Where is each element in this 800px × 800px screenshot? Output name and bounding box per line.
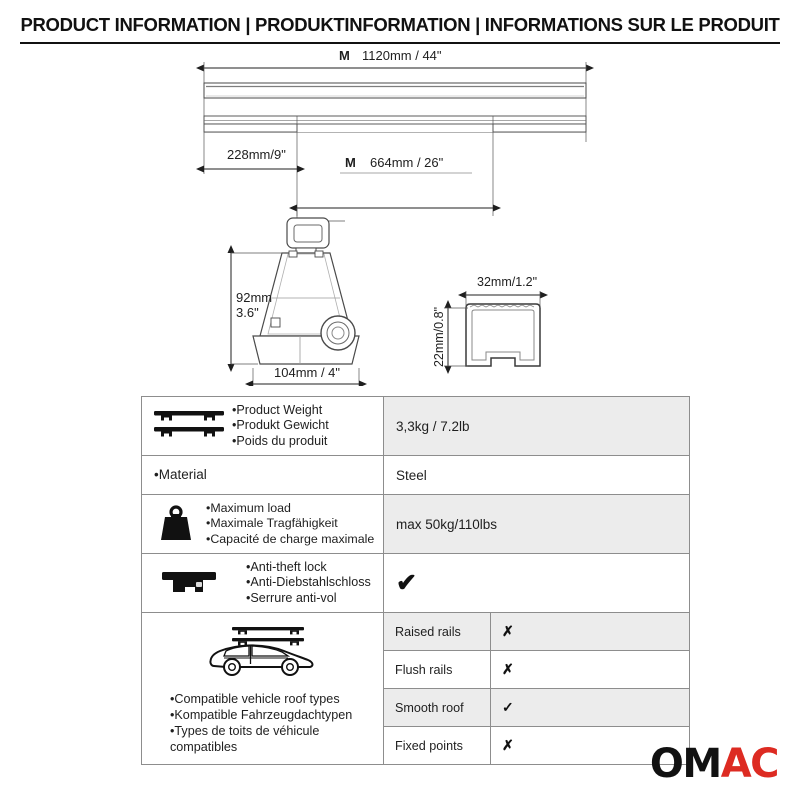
roof-type-name: Flush rails — [384, 651, 491, 688]
profile-cross-section — [466, 304, 540, 366]
label-line-en: •Product Weight — [232, 403, 381, 419]
label-line-de: •Maximale Tragfähigkeit — [206, 516, 381, 532]
logo-text-dark: OM — [650, 741, 721, 787]
row-label-text: •Anti-theft lock •Anti-Diebstahlschloss … — [232, 560, 381, 607]
row-value-material: Steel — [384, 456, 689, 494]
roof-label-text: •Compatible vehicle roof types •Kompatib… — [148, 691, 352, 755]
dimension-foot-spacing: M 664mm / 26" — [297, 155, 493, 208]
roof-type-mark-cross-icon: ✗ — [491, 651, 689, 688]
label-line-en: •Maximum load — [206, 501, 381, 517]
row-label-text: •Product Weight •Produkt Gewicht •Poids … — [232, 403, 381, 450]
foot-footprint-left — [204, 124, 297, 132]
label-line-fr: •Types de toits de véhicule — [170, 723, 352, 739]
dimension-foot-width-value: 104mm / 4" — [274, 365, 340, 380]
omac-logo: OMAC — [650, 744, 778, 784]
roof-type-fixed-points: Fixed points ✗ — [384, 727, 689, 764]
dimension-profile-width: 32mm/1.2" — [466, 275, 540, 308]
roof-type-name: Raised rails — [384, 613, 491, 650]
table-row-maximum-load: •Maximum load •Maximale Tragfähigkeit •C… — [142, 495, 689, 554]
table-row-anti-theft-lock: •Anti-theft lock •Anti-Diebstahlschloss … — [142, 554, 689, 613]
label-line-fr: •Capacité de charge maximale — [206, 532, 381, 548]
label-line-en: •Compatible vehicle roof types — [170, 691, 352, 707]
roof-type-name: Fixed points — [384, 727, 491, 764]
roof-type-raised-rails: Raised rails ✗ — [384, 613, 689, 651]
foot-footprint-right — [493, 124, 586, 132]
roof-type-mark-cross-icon: ✗ — [491, 613, 689, 650]
row-label-cell: •Anti-theft lock •Anti-Diebstahlschloss … — [142, 554, 384, 612]
specification-table: •Product Weight •Produkt Gewicht •Poids … — [141, 396, 690, 765]
roof-type-name: Smooth roof — [384, 689, 491, 726]
label-line-fr-cont: compatibles — [170, 739, 352, 755]
table-row-roof-types: •Compatible vehicle roof types •Kompatib… — [142, 613, 689, 764]
logo-text-accent: AC — [721, 741, 778, 787]
dimension-total-length-prefix: M — [339, 48, 350, 63]
crossbars-icon — [146, 408, 232, 444]
label-line-en: •Anti-theft lock — [246, 560, 381, 576]
dimension-foot-spacing-value: 664mm / 26" — [370, 155, 444, 170]
row-label-text: •Material — [146, 467, 381, 483]
checkmark-icon: ✔ — [396, 571, 417, 596]
dimension-foot-height-mm: 92mm — [236, 290, 272, 305]
row-value-anti-theft-lock: ✔ — [384, 554, 689, 612]
header-divider — [20, 42, 780, 44]
table-row-product-weight: •Product Weight •Produkt Gewicht •Poids … — [142, 397, 689, 456]
label-line-en: •Material — [154, 467, 381, 483]
roof-type-smooth-roof: Smooth roof ✓ — [384, 689, 689, 727]
row-label-text: •Maximum load •Maximale Tragfähigkeit •C… — [206, 501, 381, 548]
table-row-material: •Material Steel — [142, 456, 689, 495]
row-value-maximum-load: max 50kg/110lbs — [384, 495, 689, 553]
dimension-foot-offset-value: 228mm/9" — [227, 147, 286, 162]
roof-types-list: Raised rails ✗ Flush rails ✗ Smooth roof… — [384, 613, 689, 764]
dimension-foot-height-in: 3.6" — [236, 305, 259, 320]
row-label-cell: •Material — [142, 456, 384, 494]
crossbar-top-view — [204, 116, 586, 133]
dimension-foot-width: 104mm / 4" — [253, 365, 359, 386]
dimension-profile-width-value: 32mm/1.2" — [477, 275, 537, 289]
label-line-de: •Kompatible Fahrzeugdachtypen — [170, 707, 352, 723]
row-label-cell: •Product Weight •Produkt Gewicht •Poids … — [142, 397, 384, 455]
row-label-cell-roof: •Compatible vehicle roof types •Kompatib… — [142, 613, 384, 764]
dimension-profile-height-value: 22mm/0.8" — [432, 307, 446, 367]
label-line-de: •Anti-Diebstahlschloss — [246, 575, 381, 591]
weight-icon — [146, 504, 206, 544]
technical-drawing: M 1120mm / 44" 228mm/9" M 664mm / 26" — [0, 46, 800, 386]
dimension-foot-offset: 228mm/9" — [204, 147, 297, 169]
car-with-rack-icon — [204, 622, 322, 683]
lock-icon — [146, 568, 232, 598]
dimension-total-length-value: 1120mm / 44" — [362, 48, 442, 63]
row-value-product-weight: 3,3kg / 7.2lb — [384, 397, 689, 455]
row-label-cell: •Maximum load •Maximale Tragfähigkeit •C… — [142, 495, 384, 553]
dimension-profile-height: 22mm/0.8" — [432, 307, 468, 367]
crossbar-side-view — [204, 83, 586, 98]
label-line-fr: •Serrure anti-vol — [246, 591, 381, 607]
page-header: PRODUCT INFORMATION | PRODUKTINFORMATION… — [0, 14, 800, 36]
page-title: PRODUCT INFORMATION | PRODUKTINFORMATION… — [0, 14, 800, 36]
dimension-foot-spacing-prefix: M — [345, 155, 356, 170]
roof-type-mark-check-icon: ✓ — [491, 689, 689, 726]
roof-type-flush-rails: Flush rails ✗ — [384, 651, 689, 689]
label-line-fr: •Poids du produit — [232, 434, 381, 450]
label-line-de: •Produkt Gewicht — [232, 418, 381, 434]
